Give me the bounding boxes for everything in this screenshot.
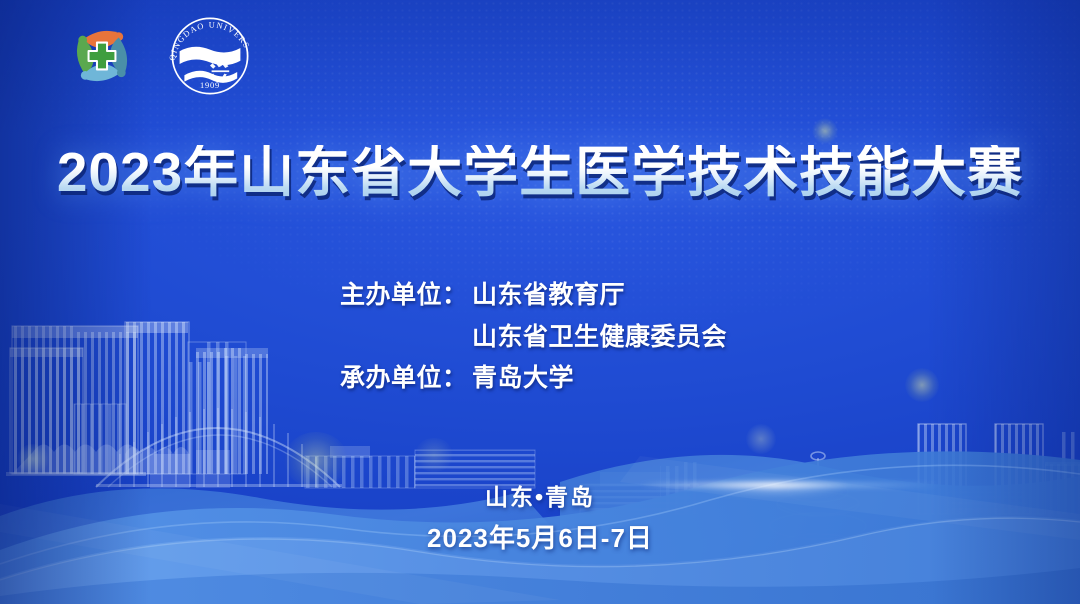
- event-footer: 山东•青岛 2023年5月6日-7日: [0, 482, 1080, 556]
- organizer-label: [340, 320, 472, 356]
- organizer-value: 青岛大学: [472, 361, 740, 397]
- medical-skills-competition-logo: [60, 14, 144, 98]
- organizer-row: 主办单位： 山东省教育厅: [340, 278, 740, 314]
- event-banner: QINGDAO UNIVERSITY 1909 2023年山东省大学生医学技术技…: [0, 0, 1080, 604]
- organizer-row: 山东省卫生健康委员会: [340, 320, 740, 356]
- green-cross-icon: [89, 43, 116, 70]
- event-date: 2023年5月6日-7日: [0, 522, 1080, 556]
- organizer-label: 承办单位：: [340, 361, 472, 397]
- organizer-list: 主办单位： 山东省教育厅 山东省卫生健康委员会 承办单位： 青岛大学: [0, 278, 1080, 397]
- event-location: 山东•青岛: [0, 482, 1080, 513]
- page-title: 2023年山东省大学生医学技术技能大赛: [0, 145, 1080, 200]
- qingdao-university-seal: QINGDAO UNIVERSITY 1909: [162, 8, 258, 104]
- logo-group: QINGDAO UNIVERSITY 1909: [60, 8, 258, 104]
- organizer-value: 山东省卫生健康委员会: [472, 320, 740, 356]
- organizer-row: 承办单位： 青岛大学: [340, 361, 740, 397]
- organizer-label: 主办单位：: [340, 278, 472, 314]
- organizer-value: 山东省教育厅: [472, 278, 740, 314]
- svg-text:1909: 1909: [200, 81, 220, 90]
